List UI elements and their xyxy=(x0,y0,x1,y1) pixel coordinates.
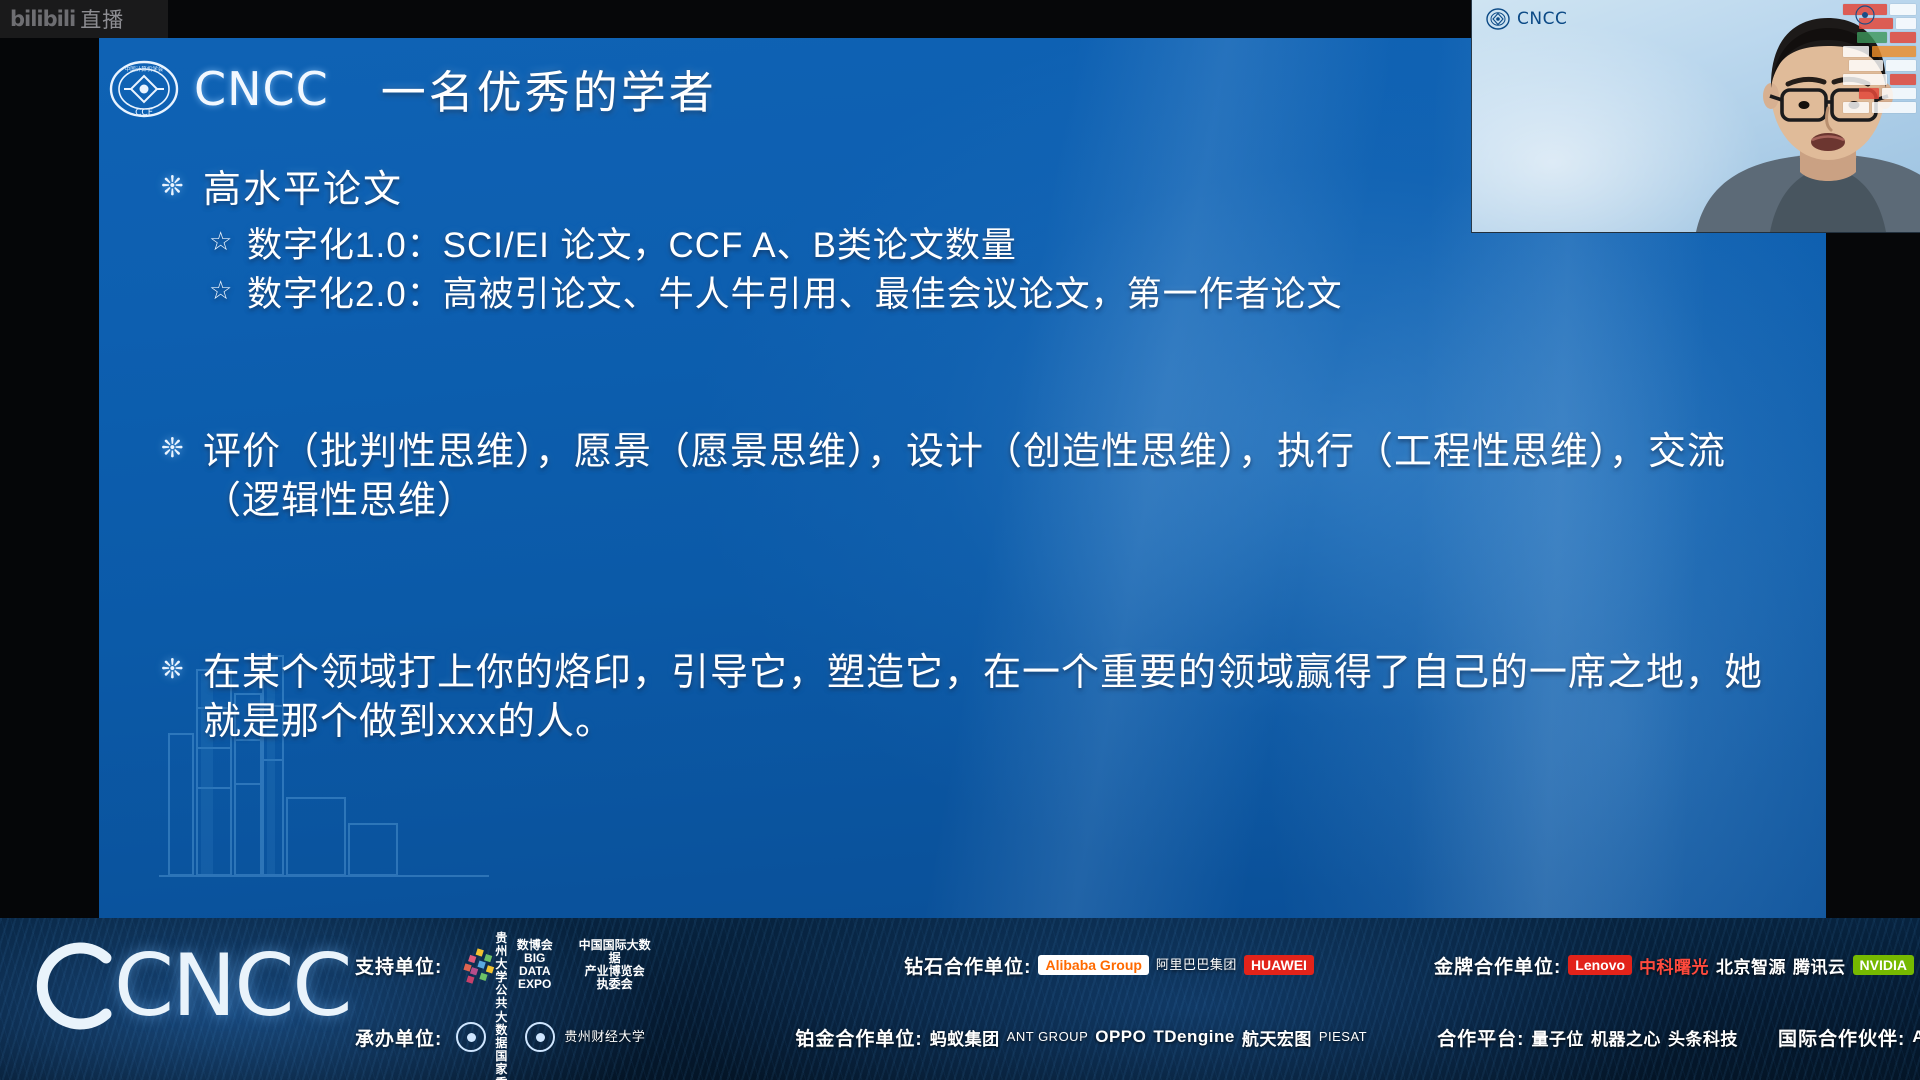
bilibili-live-watermark: bilibili 直播 xyxy=(0,0,168,38)
guizhou-line1: 贵州大学 xyxy=(495,932,507,985)
university-seal-icon xyxy=(456,1022,486,1052)
oppo-logo: OPPO xyxy=(1095,1027,1146,1047)
slide-body: ❊ 高水平论文 ☆ 数字化1.0：SCI/EI 论文，CCF A、B类论文数量 … xyxy=(161,166,1781,753)
speaker-webcam-pip[interactable]: CNCC xyxy=(1471,0,1920,233)
expo-line2: BIG DATA xyxy=(508,952,561,978)
guizhou-university-logo: 贵州大学 公共大数据国家重点实验室 xyxy=(456,932,507,1080)
cncc-c-mark-icon xyxy=(28,938,114,1034)
expo-committee-logo: 中国国际大数据 产业博览会 执委会 xyxy=(575,939,654,992)
sub-bullet-text: 数字化2.0：高被引论文、牛人牛引用、最佳会议论文，第一作者论文 xyxy=(247,270,1343,320)
university-seal-icon xyxy=(525,1022,555,1052)
guizhou-text-block: 贵州大学 公共大数据国家重点实验室 xyxy=(495,932,507,1080)
guizhou-finance-university-logo: 贵州财经大学 xyxy=(525,1022,645,1052)
committee-text-block: 中国国际大数据 产业博览会 执委会 xyxy=(575,939,654,992)
expo-line1: 数博会 xyxy=(508,939,561,952)
cncc-round-logo xyxy=(1486,8,1510,30)
bilibili-logo: bilibili xyxy=(10,7,75,31)
acm-logo: ACM xyxy=(1912,1027,1920,1047)
piesat-logo: 航天宏图 xyxy=(1242,1025,1312,1050)
banner-wordmark-text: CNCC xyxy=(114,936,350,1036)
alibaba-cn-name: 阿里巴巴集团 xyxy=(1156,958,1237,973)
svg-text:中国计算机学会: 中国计算机学会 xyxy=(125,65,164,73)
asterisk-bullet-icon: ❊ xyxy=(161,428,203,470)
sub-bullet-digital-2: ☆ 数字化2.0：高被引论文、牛人牛引用、最佳会议论文，第一作者论文 xyxy=(209,270,1781,320)
platform-label: 合作平台: xyxy=(1437,1024,1524,1051)
committee-line3: 执委会 xyxy=(575,978,654,991)
slide-brand: CNCC xyxy=(194,62,329,116)
ant-group-en: ANT GROUP xyxy=(1007,1030,1089,1045)
quantum-logo: 量子位 xyxy=(1531,1025,1584,1050)
committee-line1: 中国国际大数据 xyxy=(575,939,654,965)
asterisk-bullet-icon: ❊ xyxy=(161,649,203,691)
nvidia-logo: NVIDIA xyxy=(1853,955,1914,975)
gold-partners-group: 金牌合作单位: Lenovo 中科曙光 北京智源 腾讯云 NVIDIA xyxy=(1434,952,1914,979)
expo-text-block: 数博会 BIG DATA EXPO xyxy=(508,939,561,992)
spacer xyxy=(161,531,1781,649)
paragraph-text: 在某个领域打上你的烙印，引导它，塑造它，在一个重要的领域赢得了自己的一席之地，她… xyxy=(203,649,1781,746)
lenovo-logo: Lenovo xyxy=(1568,955,1632,975)
pip-top-logo xyxy=(1854,4,1912,26)
bilibili-live-label: 直播 xyxy=(80,4,124,34)
expo-line3: EXPO xyxy=(508,978,561,991)
platinum-partners-group: 铂金合作单位: 蚂蚁集团 ANT GROUP OPPO TDengine 航天宏… xyxy=(795,1024,1367,1051)
platinum-label: 铂金合作单位: xyxy=(795,1024,922,1051)
sponsor-row: 承办单位: 贵州大学 公共大数据国家重点实验室 贵州财经大学 铂金合作单位: 蚂… xyxy=(355,1006,1914,1068)
guizhou-line2: 公共大数据国家重点实验室 xyxy=(495,984,507,1080)
slide-title: 一名优秀的学者 xyxy=(381,56,717,121)
beijing-zhiyuan-logo: 北京智源 xyxy=(1716,953,1786,978)
spacer xyxy=(161,320,1781,428)
star-bullet-icon: ☆ xyxy=(209,270,247,310)
row-label: 承办单位: xyxy=(355,1024,442,1051)
jiqizhixin-logo: 机器之心 xyxy=(1591,1025,1661,1050)
row-label: 支持单位: xyxy=(355,952,442,979)
pip-cncc-branding: CNCC xyxy=(1486,8,1567,30)
diamond-partners-group: 钻石合作单位: Alibaba Group 阿里巴巴集团 HUAWEI xyxy=(904,952,1314,979)
sponsor-row: 支持单位: xyxy=(355,934,1914,996)
huawei-logo: HUAWEI xyxy=(1244,955,1314,975)
tdengine-logo: TDengine xyxy=(1153,1027,1234,1047)
sugon-logo: 中科曙光 xyxy=(1639,953,1709,978)
international-label: 国际合作伙伴: xyxy=(1778,1024,1905,1051)
screen: bilibili 直播 xyxy=(0,0,1920,1080)
ccf-cncc-logo: CCF 中国计算机学会 xyxy=(108,59,180,119)
paragraph-text: 评价（批判性思维），愿景（愿景思维），设计（创造性思维），执行（工程性思维），交… xyxy=(203,428,1781,525)
asterisk-bullet-icon: ❊ xyxy=(161,166,203,208)
ant-group-logo: 蚂蚁集团 xyxy=(930,1025,1000,1050)
svg-text:CCF: CCF xyxy=(135,108,153,118)
sponsor-banner: CNCC 支持单位: xyxy=(0,918,1920,1080)
toutiao-keji-logo: 头条科技 xyxy=(1668,1025,1738,1050)
platform-partners-group: 合作平台: 量子位 机器之心 头条科技 xyxy=(1437,1024,1738,1051)
sub-bullet-text: 数字化1.0：SCI/EI 论文，CCF A、B类论文数量 xyxy=(247,221,1017,271)
diamond-label: 钻石合作单位: xyxy=(904,952,1031,979)
bullet-thinking-modes: ❊ 评价（批判性思维），愿景（愿景思维），设计（创造性思维），执行（工程性思维）… xyxy=(161,428,1781,525)
banner-cncc-wordmark: CNCC xyxy=(28,936,350,1036)
tencent-cloud-logo: 腾讯云 xyxy=(1793,953,1846,978)
international-partners-group: 国际合作伙伴: ACM IEEE CS xyxy=(1778,1024,1920,1051)
sponsor-rows: 支持单位: xyxy=(355,926,1914,1076)
bullet-text: 高水平论文 xyxy=(203,166,403,215)
bullet-leave-your-mark: ❊ 在某个领域打上你的烙印，引导它，塑造它，在一个重要的领域赢得了自己的一席之地… xyxy=(161,649,1781,746)
piesat-en: PIESAT xyxy=(1319,1030,1367,1045)
alibaba-group-logo: Alibaba Group xyxy=(1038,955,1148,975)
star-bullet-icon: ☆ xyxy=(209,221,247,261)
pip-brand-text: CNCC xyxy=(1517,9,1567,29)
gold-label: 金牌合作单位: xyxy=(1434,952,1561,979)
guizhou-finance-name: 贵州财经大学 xyxy=(564,1030,645,1045)
